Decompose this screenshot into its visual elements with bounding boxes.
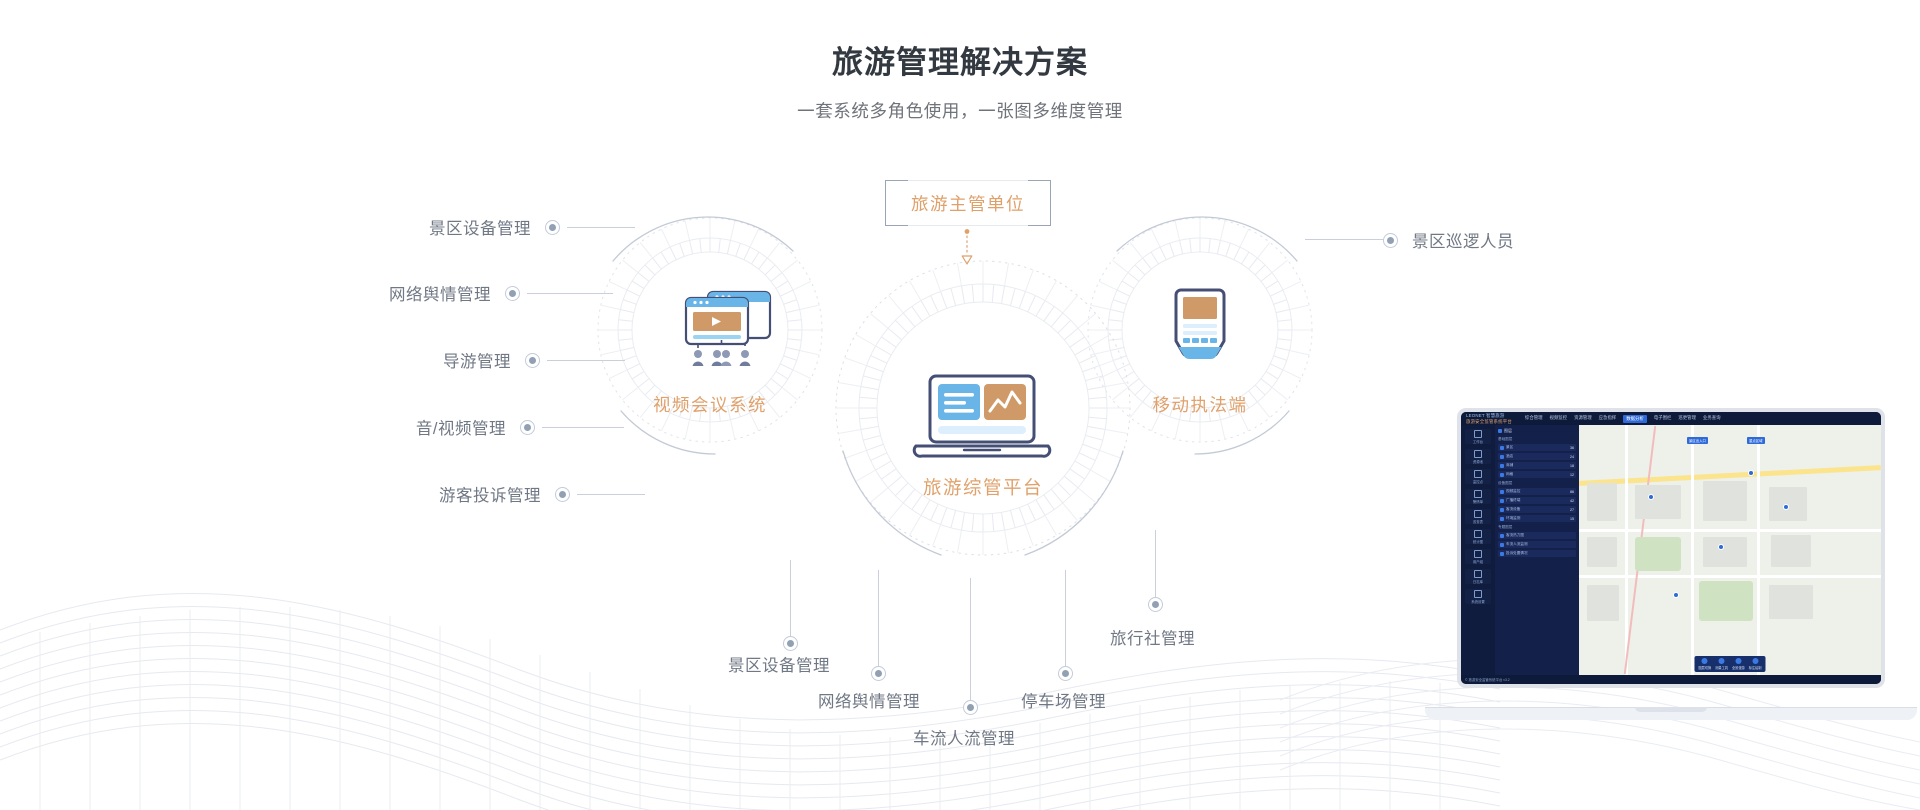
dashboard-subbrand: 旅游安全监管系统平台 <box>1461 419 1512 424</box>
spoke-left-label-4: 游客投诉管理 <box>439 482 541 506</box>
layer-row-g1-3[interactable]: 网格 12 <box>1498 471 1576 478</box>
laptop-mockup: LEONET 智慧旅游 旅游安全监管系统平台 综合管理 视频监控 资源管理 应急… <box>1425 408 1917 728</box>
stem-bottom-4 <box>1155 530 1156 600</box>
layer-swatch-g2-3 <box>1500 517 1504 521</box>
spoke-line-left-3 <box>542 427 624 428</box>
map-road-3 <box>1691 425 1694 675</box>
spoke-line-right-0 <box>1305 239 1385 240</box>
dashboard-map[interactable]: 景区出入口 重点区域 图层切换 测量工具 <box>1579 425 1881 675</box>
map-tool-2[interactable]: 全景漫游 <box>1732 658 1745 670</box>
node-label-mobile-enforcement: 移动执法端 <box>1100 392 1300 417</box>
layer-row-g1-1[interactable]: 酒店 24 <box>1498 453 1576 460</box>
spoke-dot-left-0 <box>545 220 560 235</box>
sidebar-icon-5 <box>1474 530 1482 538</box>
layer-panel-title-text: 图层 <box>1504 428 1512 434</box>
sidebar-label-8: 系统设置 <box>1471 599 1485 604</box>
spoke-bottom-label-1[interactable]: 网络舆情管理 <box>818 688 920 712</box>
map-road-2 <box>1625 425 1628 675</box>
spoke-dot-left-1 <box>505 286 520 301</box>
map-block-4 <box>1587 537 1617 567</box>
map-tool-icon-3 <box>1752 658 1758 664</box>
sidebar-icon-4 <box>1474 510 1482 518</box>
layer-row-g3-2[interactable]: 投诉处置情况 <box>1498 550 1576 557</box>
layer-swatch-g2-1 <box>1500 499 1504 503</box>
sidebar-label-0: 工作台 <box>1473 439 1483 444</box>
laptop-lid: LEONET 智慧旅游 旅游安全监管系统平台 综合管理 视频监控 资源管理 应急… <box>1457 408 1885 688</box>
layer-swatch-g2-0 <box>1500 490 1504 494</box>
spoke-left-4[interactable]: 游客投诉管理 <box>330 482 570 506</box>
layer-swatch-g1-1 <box>1500 455 1504 459</box>
layer-label-g1-0: 景区 <box>1506 445 1513 450</box>
map-tool-1[interactable]: 测量工具 <box>1715 658 1728 670</box>
dashboard-body: 工作台 资源池 监控点 警情单 <box>1461 425 1881 675</box>
layer-row-g1-2[interactable]: 商铺 18 <box>1498 462 1576 469</box>
map-pin-2[interactable] <box>1784 505 1788 509</box>
map-road-4 <box>1757 425 1760 675</box>
map-tool-icon-2 <box>1735 658 1741 664</box>
layer-count-g1-3: 12 <box>1570 473 1574 477</box>
sidebar-item-2[interactable]: 监控点 <box>1465 469 1491 484</box>
node-label-video-conference: 视频会议系统 <box>610 392 810 417</box>
sidebar-item-0[interactable]: 工作台 <box>1465 429 1491 444</box>
spoke-left-label-2: 导游管理 <box>443 348 511 372</box>
sidebar-icon-2 <box>1474 470 1482 478</box>
page-header: 旅游管理解决方案 一套系统多角色使用，一张图多维度管理 <box>0 0 1920 123</box>
spoke-dot-bottom-1 <box>871 666 886 681</box>
spoke-line-left-0 <box>567 227 635 228</box>
layer-label-g2-1: 广播终端 <box>1506 498 1520 503</box>
spoke-bottom-label-4[interactable]: 旅行社管理 <box>1110 625 1195 649</box>
map-chip-0[interactable]: 景区出入口 <box>1687 437 1708 444</box>
map-tool-label-0: 图层切换 <box>1699 665 1712 670</box>
layer-count-g2-2: 27 <box>1570 508 1574 512</box>
sidebar-item-3[interactable]: 警情单 <box>1465 489 1491 504</box>
layer-swatch-g3-1 <box>1500 543 1504 547</box>
dashboard-tabs[interactable]: 综合管理 视频监控 资源管理 应急指挥 数据分析 电子围栏 巡更管理 业务查询 <box>1525 415 1721 423</box>
spoke-bottom-label-0[interactable]: 景区设备管理 <box>728 652 830 676</box>
layer-group-2-title: 设备图层 <box>1498 481 1576 486</box>
sidebar-icon-0 <box>1474 430 1482 438</box>
layer-count-g2-3: 15 <box>1570 517 1574 521</box>
layer-label-g3-2: 投诉处置情况 <box>1506 551 1528 556</box>
layer-row-g3-1[interactable]: 车流人流监测 <box>1498 541 1576 548</box>
map-tool-0[interactable]: 图层切换 <box>1699 658 1712 670</box>
map-block-1 <box>1635 485 1681 519</box>
layer-row-g2-3[interactable]: 环境监测 15 <box>1498 515 1576 522</box>
map-block-5 <box>1703 537 1747 567</box>
corner-bracket-bottom-left-icon <box>885 203 908 226</box>
dashboard-tab-5[interactable]: 电子围栏 <box>1654 415 1672 423</box>
map-toolbar[interactable]: 图层切换 测量工具 全景漫游 <box>1695 656 1766 672</box>
sidebar-label-6: 用户组 <box>1473 559 1483 564</box>
map-tool-label-2: 全景漫游 <box>1732 665 1745 670</box>
spoke-left-0[interactable]: 景区设备管理 <box>330 215 560 239</box>
node-label-tourism-platform: 旅游综管平台 <box>883 474 1083 500</box>
dashboard-sidebar[interactable]: 工作台 资源池 监控点 警情单 <box>1461 425 1495 675</box>
page-subtitle: 一套系统多角色使用，一张图多维度管理 <box>0 81 1920 123</box>
map-green-1 <box>1699 581 1753 621</box>
layer-row-g3-0[interactable]: 客流热力图 <box>1498 532 1576 539</box>
dashboard-tab-6[interactable]: 巡更管理 <box>1678 415 1696 423</box>
layer-row-g2-2[interactable]: 客流设备 27 <box>1498 506 1576 513</box>
layer-label-g3-0: 客流热力图 <box>1506 533 1524 538</box>
sidebar-icon-3 <box>1474 490 1482 498</box>
map-block-3 <box>1769 487 1807 521</box>
layer-label-g2-2: 客流设备 <box>1506 507 1520 512</box>
page-root: 旅游管理解决方案 一套系统多角色使用，一张图多维度管理 <box>0 0 1920 810</box>
layer-label-g2-0: 视频监控 <box>1506 489 1520 494</box>
sidebar-item-7[interactable]: 日志库 <box>1465 569 1491 584</box>
spoke-line-left-1 <box>527 293 613 294</box>
auth-box-edge-top <box>907 180 1029 181</box>
map-tool-3[interactable]: 标注绘制 <box>1749 658 1762 670</box>
map-pin-1[interactable] <box>1719 545 1723 549</box>
layer-group-1-title: 基础图层 <box>1498 437 1576 442</box>
map-pin-0[interactable] <box>1649 495 1653 499</box>
page-title: 旅游管理解决方案 <box>0 0 1920 81</box>
dashboard-topbar: LEONET 智慧旅游 旅游安全监管系统平台 综合管理 视频监控 资源管理 应急… <box>1461 412 1881 425</box>
layer-label-g2-3: 环境监测 <box>1506 516 1520 521</box>
stem-bottom-2 <box>970 578 971 704</box>
layer-count-g1-0: 36 <box>1570 446 1574 450</box>
corner-bracket-top-left-icon <box>885 180 908 203</box>
sidebar-item-8[interactable]: 系统设置 <box>1465 589 1491 604</box>
spoke-left-label-0: 景区设备管理 <box>429 215 531 239</box>
map-block-7 <box>1587 585 1619 621</box>
spoke-dot-bottom-2 <box>963 700 978 715</box>
spoke-right-label-0: 景区巡逻人员 <box>1412 228 1514 252</box>
map-pin-4[interactable] <box>1749 471 1753 475</box>
sidebar-icon-1 <box>1474 450 1482 458</box>
map-tool-label-3: 标注绘制 <box>1749 665 1762 670</box>
authority-label: 旅游主管单位 <box>911 191 1025 216</box>
dashboard-tab-7[interactable]: 业务查询 <box>1703 415 1721 423</box>
layer-label-g1-3: 网格 <box>1506 472 1513 477</box>
spoke-dot-left-4 <box>555 487 570 502</box>
stem-bottom-0 <box>790 560 791 640</box>
layer-label-g1-2: 商铺 <box>1506 463 1513 468</box>
map-block-2 <box>1703 481 1747 521</box>
dashboard-layer-panel[interactable]: 图层 基础图层 景区 36 酒店 24 <box>1495 425 1579 675</box>
layer-group-3-title: 专题图层 <box>1498 525 1576 530</box>
map-pin-3[interactable] <box>1674 593 1678 597</box>
layer-count-g1-2: 18 <box>1570 464 1574 468</box>
layer-count-g2-0: 86 <box>1570 490 1574 494</box>
authority-box[interactable]: 旅游主管单位 <box>885 180 1051 226</box>
spoke-dot-right-0 <box>1383 233 1398 248</box>
sidebar-label-7: 日志库 <box>1473 579 1483 584</box>
layer-count-g1-1: 24 <box>1570 455 1574 459</box>
map-tool-label-1: 测量工具 <box>1715 665 1728 670</box>
sidebar-label-1: 资源池 <box>1473 459 1483 464</box>
spoke-dot-left-3 <box>520 420 535 435</box>
laptop-dashboard-icon <box>908 372 1056 468</box>
sidebar-item-6[interactable]: 用户组 <box>1465 549 1491 564</box>
layer-swatch-g1-2 <box>1500 464 1504 468</box>
auth-box-edge-bottom <box>907 225 1029 226</box>
layer-row-g2-0[interactable]: 视频监控 86 <box>1498 488 1576 495</box>
spoke-left-3[interactable]: 音/视频管理 <box>305 415 535 439</box>
dashboard-tab-0[interactable]: 综合管理 <box>1525 415 1543 423</box>
authority-down-arrow-icon <box>960 229 974 267</box>
spoke-dot-bottom-3 <box>1058 666 1073 681</box>
dashboard-screen: LEONET 智慧旅游 旅游安全监管系统平台 综合管理 视频监控 资源管理 应急… <box>1461 412 1881 684</box>
layer-swatch-g2-2 <box>1500 508 1504 512</box>
layer-row-g2-1[interactable]: 广播终端 42 <box>1498 497 1576 504</box>
map-green-0 <box>1635 537 1681 571</box>
sidebar-icon-6 <box>1474 550 1482 558</box>
handheld-terminal-icon <box>1165 286 1235 370</box>
stem-bottom-3 <box>1065 570 1066 670</box>
spoke-right-0[interactable]: 景区巡逻人员 <box>1383 228 1514 252</box>
stem-bottom-1 <box>878 570 879 670</box>
dashboard-tab-2[interactable]: 资源管理 <box>1574 415 1592 423</box>
spoke-left-label-1: 网络舆情管理 <box>389 281 491 305</box>
layer-label-g3-1: 车流人流监测 <box>1506 542 1528 547</box>
spoke-dot-bottom-0 <box>783 636 798 651</box>
map-chip-1[interactable]: 重点区域 <box>1747 437 1765 444</box>
spoke-left-2[interactable]: 导游管理 <box>310 348 540 372</box>
layer-label-g1-1: 酒店 <box>1506 454 1513 459</box>
sidebar-label-2: 监控点 <box>1473 479 1483 484</box>
map-tool-icon-0 <box>1702 658 1708 664</box>
sidebar-label-5: 统计图 <box>1473 539 1483 544</box>
spoke-line-left-4 <box>577 494 645 495</box>
spoke-dot-left-2 <box>525 353 540 368</box>
sidebar-item-4[interactable]: 巡查表 <box>1465 509 1491 524</box>
layer-swatch-g3-0 <box>1500 534 1504 538</box>
spoke-line-left-2 <box>547 360 625 361</box>
map-block-0 <box>1587 483 1617 521</box>
dashboard-tab-1[interactable]: 视频监控 <box>1550 415 1568 423</box>
sidebar-item-5[interactable]: 统计图 <box>1465 529 1491 544</box>
spoke-dot-bottom-4 <box>1148 597 1163 612</box>
map-tool-icon-1 <box>1719 658 1725 664</box>
map-block-6 <box>1771 535 1811 567</box>
spoke-bottom-label-2[interactable]: 车流人流管理 <box>913 725 1015 749</box>
sidebar-label-4: 巡查表 <box>1473 519 1483 524</box>
layer-swatch-g1-0 <box>1500 446 1504 450</box>
dashboard-tab-3[interactable]: 应急指挥 <box>1599 415 1617 423</box>
sidebar-label-3: 警情单 <box>1473 499 1483 504</box>
spoke-left-1[interactable]: 网络舆情管理 <box>290 281 520 305</box>
sidebar-item-1[interactable]: 资源池 <box>1465 449 1491 464</box>
laptop-base <box>1425 707 1917 720</box>
corner-bracket-top-right-icon <box>1028 180 1051 203</box>
spoke-bottom-label-3[interactable]: 停车场管理 <box>1021 688 1106 712</box>
dashboard-footer: © 旅游安全监管系统平台 v3.2 <box>1461 675 1881 684</box>
layer-count-g2-1: 42 <box>1570 499 1574 503</box>
corner-bracket-bottom-right-icon <box>1028 203 1051 226</box>
video-window-icon <box>680 288 792 370</box>
layers-icon <box>1498 429 1502 433</box>
sidebar-icon-8 <box>1474 590 1482 598</box>
map-block-8 <box>1769 585 1813 619</box>
layer-swatch-g3-2 <box>1500 552 1504 556</box>
sidebar-icon-7 <box>1474 570 1482 578</box>
layer-row-g1-0[interactable]: 景区 36 <box>1498 444 1576 451</box>
spoke-left-label-3: 音/视频管理 <box>416 415 506 439</box>
layer-panel-title: 图层 <box>1498 428 1576 434</box>
layer-swatch-g1-3 <box>1500 473 1504 477</box>
dashboard-tab-4[interactable]: 数据分析 <box>1623 415 1647 423</box>
